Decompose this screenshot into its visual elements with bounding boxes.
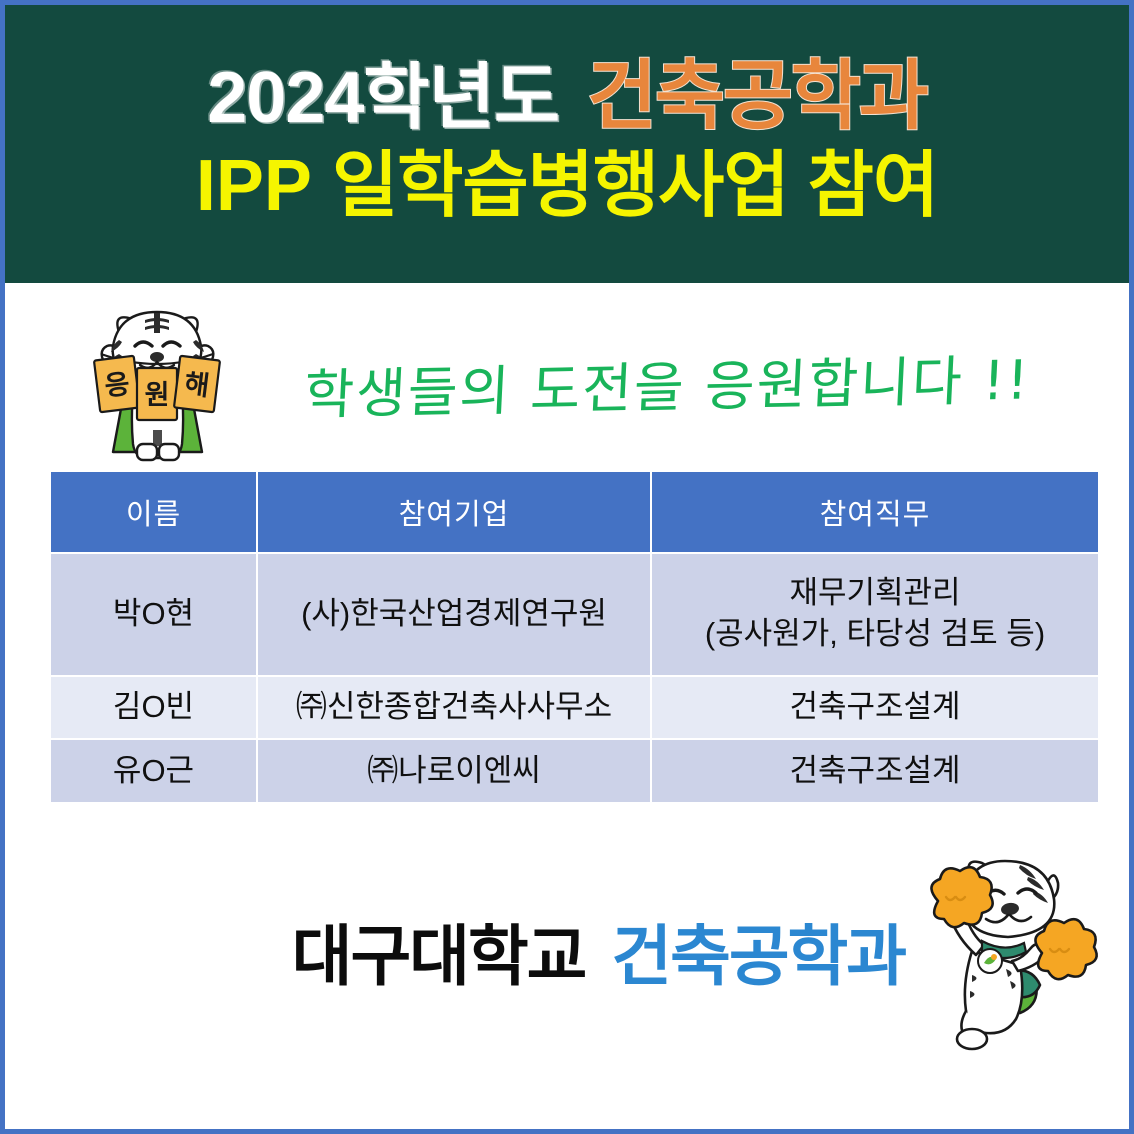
cell-company-name: (사)한국산업경제연구원: [258, 554, 650, 675]
footer-branding: 대구대학교건축공학과: [5, 923, 905, 989]
participant-table-container: 이름 참여기업 참여직무 박O현 (사)한국산업경제연구원 재무기획관리 (공사…: [49, 470, 1100, 804]
table-header-row: 이름 참여기업 참여직무: [51, 472, 1098, 552]
table-row: 박O현 (사)한국산업경제연구원 재무기획관리 (공사원가, 타당성 검토 등): [51, 554, 1098, 675]
table-row: 유O근 ㈜나로이엔씨 건축구조설계: [51, 740, 1098, 802]
tiger-mascot-pompom-icon: [900, 843, 1105, 1058]
column-header-company: 참여기업: [258, 472, 650, 552]
banner-char-2: 원: [145, 380, 170, 411]
role-line-1: 재무기획관리: [653, 573, 1097, 614]
banner-char-3: 해: [183, 369, 211, 403]
cell-job-role: 건축구조설계: [652, 740, 1098, 802]
role-line-2: (공사원가, 타당성 검토 등): [653, 614, 1097, 655]
poster-year-label: 2024학년도: [207, 61, 559, 137]
cell-student-name: 김O빈: [51, 677, 256, 739]
title-line-primary: 2024학년도 건축공학과: [207, 57, 927, 137]
poster-department-title: 건축공학과: [587, 57, 927, 137]
participant-table: 이름 참여기업 참여직무 박O현 (사)한국산업경제연구원 재무기획관리 (공사…: [49, 470, 1100, 804]
cell-company-name: ㈜나로이엔씨: [258, 740, 650, 802]
cell-job-role: 재무기획관리 (공사원가, 타당성 검토 등): [652, 554, 1098, 675]
cell-company-name: ㈜신한종합건축사사무소: [258, 677, 650, 739]
poster-canvas: 2024학년도 건축공학과 IPP일학습병행사업 참여: [0, 0, 1134, 1134]
column-header-name: 이름: [51, 472, 256, 552]
tiger-mascot-banner-icon: 응 원 해: [75, 302, 240, 470]
cell-student-name: 박O현: [51, 554, 256, 675]
footer-section: 대구대학교건축공학과: [5, 895, 1129, 1045]
cheer-message: 학생들의 도전을 응원합니다 !!: [303, 335, 1033, 429]
cell-job-role: 건축구조설계: [652, 677, 1098, 739]
program-abbreviation: IPP: [196, 146, 312, 226]
university-name: 대구대학교: [292, 919, 586, 993]
column-header-role: 참여직무: [652, 472, 1098, 552]
program-name: 일학습병행사업 참여: [332, 146, 938, 226]
table-row: 김O빈 ㈜신한종합건축사사무소 건축구조설계: [51, 677, 1098, 739]
banner-char-1: 응: [103, 369, 131, 403]
cheer-section: 응 원 해 학생들의 도전을 응원합니다 !!: [5, 288, 1129, 463]
cell-student-name: 유O근: [51, 740, 256, 802]
header-banner: 2024학년도 건축공학과 IPP일학습병행사업 참여: [0, 0, 1134, 283]
footer-department-name: 건축공학과: [611, 919, 905, 993]
title-line-secondary: IPP일학습병행사업 참여: [196, 147, 938, 226]
